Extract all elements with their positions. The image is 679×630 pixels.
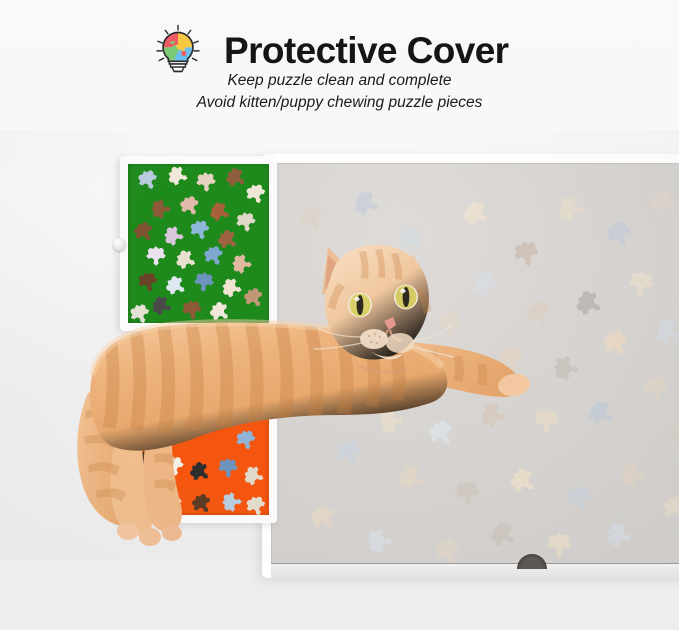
sorting-tray-green-surface [128, 164, 269, 323]
sorting-tray-green[interactable] [120, 156, 277, 331]
sorting-tray-orange-surface [128, 356, 269, 515]
page-title: Protective Cover [224, 32, 508, 69]
puzzle-board-bottom-rail [271, 563, 679, 578]
puzzle-pieces-orange-tray [128, 356, 269, 515]
puzzle-board [262, 154, 679, 578]
subtitle-block: Keep puzzle clean and complete Avoid kit… [0, 70, 679, 113]
scattered-puzzle-pieces-board [272, 164, 679, 564]
puzzle-pieces-green-tray [128, 164, 269, 323]
subtitle-line-2: Avoid kitten/puppy chewing puzzle pieces [0, 92, 679, 113]
header: Protective Cover Keep puzzle clean and c… [0, 0, 679, 130]
tray-knob[interactable] [113, 430, 126, 443]
sorting-tray-orange[interactable] [120, 348, 277, 523]
subtitle-line-1: Keep puzzle clean and complete [0, 70, 679, 91]
product-infographic: Protective Cover Keep puzzle clean and c… [0, 0, 679, 630]
product-photo [0, 130, 679, 560]
puzzle-board-surface [271, 163, 679, 564]
tray-knob[interactable] [113, 238, 126, 251]
